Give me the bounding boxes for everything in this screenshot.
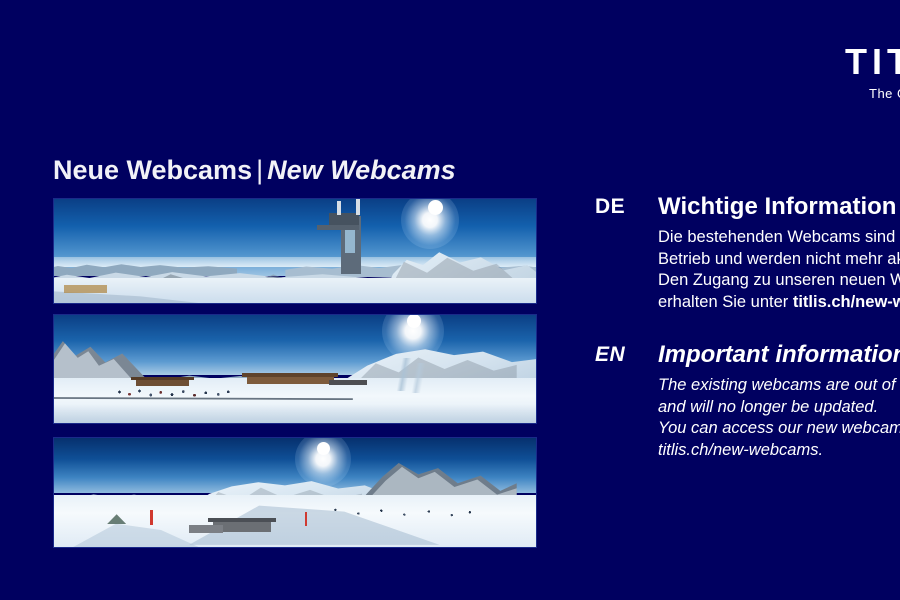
de-body-text: Die bestehenden Webcams sind ausser Betr… xyxy=(658,227,900,315)
en-line-1: The existing webcams are out of order xyxy=(658,375,900,397)
piste-marker-2 xyxy=(305,512,308,526)
distant-skiers xyxy=(319,506,483,519)
piste-track-line-2 xyxy=(358,363,483,393)
de-line-4-text: erhalten Sie unter xyxy=(658,293,793,311)
language-label-de: DE xyxy=(595,195,625,219)
en-heading: Important information xyxy=(658,341,900,369)
panorama-3-scene xyxy=(54,438,536,547)
alpine-hut-small xyxy=(189,525,223,533)
en-heading-row: EN Important information xyxy=(595,341,900,369)
logo-wordmark: TITLIS xyxy=(845,44,900,80)
de-webcam-link[interactable]: titlis.ch/new-webcams xyxy=(793,293,900,311)
station-tower-head xyxy=(329,213,359,226)
alpine-hut-roof xyxy=(208,518,275,522)
de-line-3: Den Zugang zu unseren neuen Webcams xyxy=(658,270,900,292)
language-label-en: EN xyxy=(595,343,625,367)
info-block-de: DE Wichtige Information Die bestehenden … xyxy=(595,193,900,314)
de-heading-row: DE Wichtige Information xyxy=(595,193,900,221)
de-heading: Wichtige Information xyxy=(658,193,900,221)
info-block-en: EN Important information The existing we… xyxy=(595,341,900,462)
panorama-2-scene xyxy=(54,315,536,423)
antenna-mast-left xyxy=(337,201,341,215)
mountain-restaurant-main xyxy=(247,375,334,384)
titlis-logo: TITLIS The Glacier Adventure xyxy=(845,44,900,101)
de-line-4: erhalten Sie unter titlis.ch/new-webcams… xyxy=(658,292,900,314)
panorama-image-2 xyxy=(53,314,537,424)
panorama-image-3 xyxy=(53,437,537,548)
panorama-image-1 xyxy=(53,198,537,304)
piste-marker-1 xyxy=(150,510,153,525)
page-title-separator: | xyxy=(252,155,267,185)
skier-crowd xyxy=(112,388,237,398)
page-title-german: Neue Webcams xyxy=(53,155,252,185)
page-title: Neue Webcams|New Webcams xyxy=(53,156,456,186)
panorama-1-scene xyxy=(54,199,536,303)
lower-station-building xyxy=(64,285,107,292)
logo-tagline: The Glacier Adventure xyxy=(869,86,900,101)
en-line-2: and will no longer be updated. xyxy=(658,397,900,419)
lodge-roof-left xyxy=(131,377,194,380)
en-webcam-link[interactable]: titlis.ch/new-webcams. xyxy=(658,440,900,462)
mountain-restaurant-roof xyxy=(242,373,338,376)
foreground-snow-shadow xyxy=(54,404,536,423)
sun-disc-icon xyxy=(428,200,443,215)
de-line-1: Die bestehenden Webcams sind ausser xyxy=(658,227,900,249)
en-body-text: The existing webcams are out of order an… xyxy=(658,375,900,463)
page-title-english: New Webcams xyxy=(267,155,456,185)
lodge-building-left xyxy=(136,379,189,387)
station-crossbeam xyxy=(317,225,359,230)
webcam-notice-slide: TITLIS The Glacier Adventure Neue Webcam… xyxy=(0,0,900,600)
station-tower-window xyxy=(345,230,355,253)
antenna-mast-right xyxy=(356,199,360,215)
sun-disc-icon xyxy=(407,315,421,328)
de-line-2: Betrieb und werden nicht mehr aktualisie… xyxy=(658,249,900,271)
en-line-3: You can access our new webcams at xyxy=(658,418,900,440)
